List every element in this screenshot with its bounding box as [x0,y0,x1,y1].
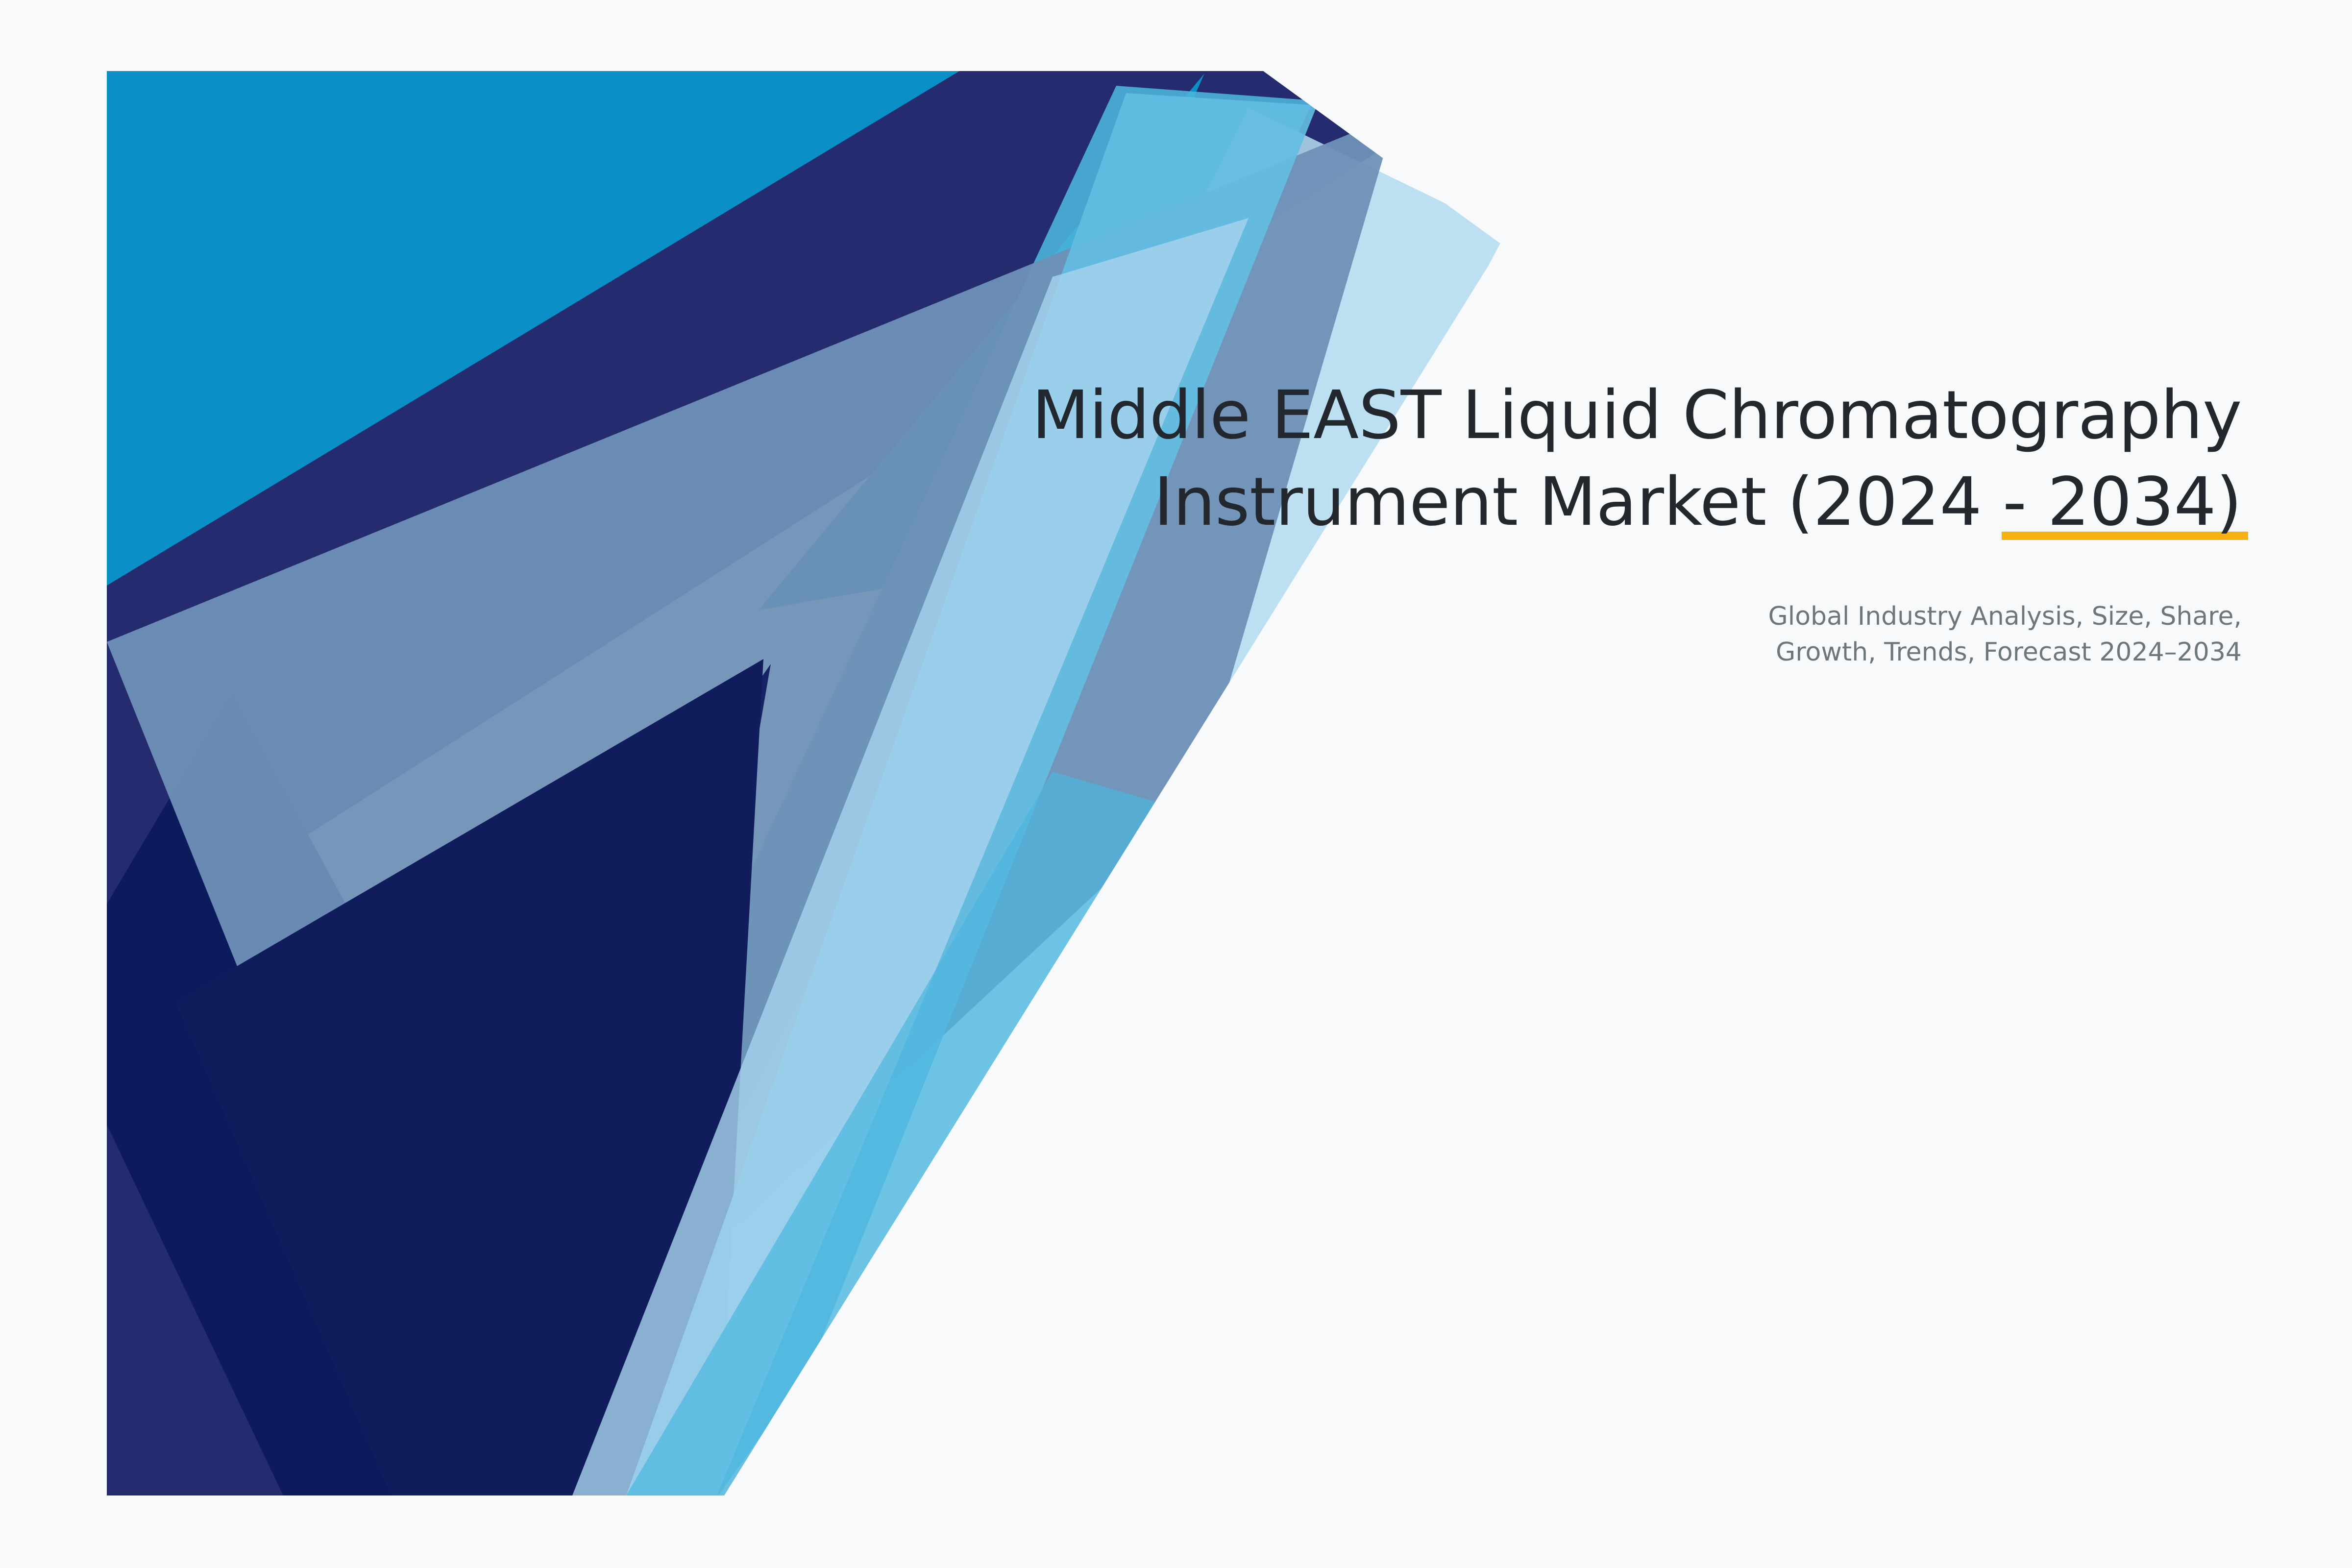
page-title-line-2: Instrument Market (2024 - 2034) [833,459,2242,546]
page-title-line-1: Middle EAST Liquid Chromatography [833,372,2242,459]
slide-root: Middle EAST Liquid Chromatography Instru… [0,0,2352,1568]
cover-artwork [107,71,1506,1495]
title-wrap: Middle EAST Liquid Chromatography Instru… [833,372,2242,546]
page-subtitle: Global Industry Analysis, Size, Share, G… [833,599,2242,671]
geometric-artwork-svg [107,71,1506,1495]
cover-text-block: Middle EAST Liquid Chromatography Instru… [833,372,2242,671]
